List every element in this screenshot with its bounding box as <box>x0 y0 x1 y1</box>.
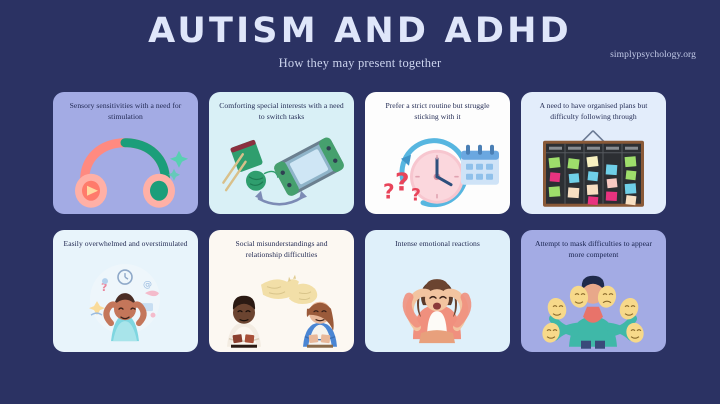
svg-text:@: @ <box>143 280 152 290</box>
header: AUTISM AND ADHD How they may present tog… <box>0 0 720 71</box>
card-emotional-reactions: Intense emotional reactions <box>365 230 510 352</box>
two-people-broken-speech-bubble-icon <box>209 261 354 352</box>
cards-grid: Sensory sensitivities with a need for st… <box>53 92 667 352</box>
card-title: Sensory sensitivities with a need for st… <box>53 92 198 123</box>
person-holding-masks-icon <box>521 261 666 352</box>
card-title: Intense emotional reactions <box>365 230 510 250</box>
card-masking-difficulties: Attempt to mask difficulties to appear m… <box>521 230 666 352</box>
card-title: Comforting special interests with a need… <box>209 92 354 123</box>
card-easily-overwhelmed: Easily overwhelmed and overstimulated ? … <box>53 230 198 352</box>
infographic-canvas: AUTISM AND ADHD How they may present tog… <box>0 0 720 404</box>
card-organised-plans: A need to have organised plans but diffi… <box>521 92 666 214</box>
card-title: Easily overwhelmed and overstimulated <box>53 230 198 250</box>
card-special-interests: Comforting special interests with a need… <box>209 92 354 214</box>
card-title: Prefer a strict routine but struggle sti… <box>365 92 510 123</box>
clock-calendar-question-marks-icon: ? ? ? <box>365 123 510 214</box>
card-social-misunderstandings: Social misunderstandings and relationshi… <box>209 230 354 352</box>
attribution-source: simplypsychology.org <box>610 50 696 60</box>
page-title: AUTISM AND ADHD <box>0 14 720 50</box>
card-title: A need to have organised plans but diffi… <box>521 92 666 123</box>
headphones-icon <box>53 123 198 214</box>
kanban-board-icon <box>521 123 666 214</box>
svg-text:?: ? <box>383 179 395 203</box>
knitting-and-console-icon <box>209 123 354 214</box>
overwhelmed-person-icon: ? @ <box>53 250 198 352</box>
svg-text:?: ? <box>395 167 410 196</box>
card-title: Attempt to mask difficulties to appear m… <box>521 230 666 261</box>
card-title: Social misunderstandings and relationshi… <box>209 230 354 261</box>
card-strict-routine: Prefer a strict routine but struggle sti… <box>365 92 510 214</box>
distressed-person-icon <box>365 250 510 352</box>
svg-text:?: ? <box>411 185 421 205</box>
card-sensory-sensitivities: Sensory sensitivities with a need for st… <box>53 92 198 214</box>
